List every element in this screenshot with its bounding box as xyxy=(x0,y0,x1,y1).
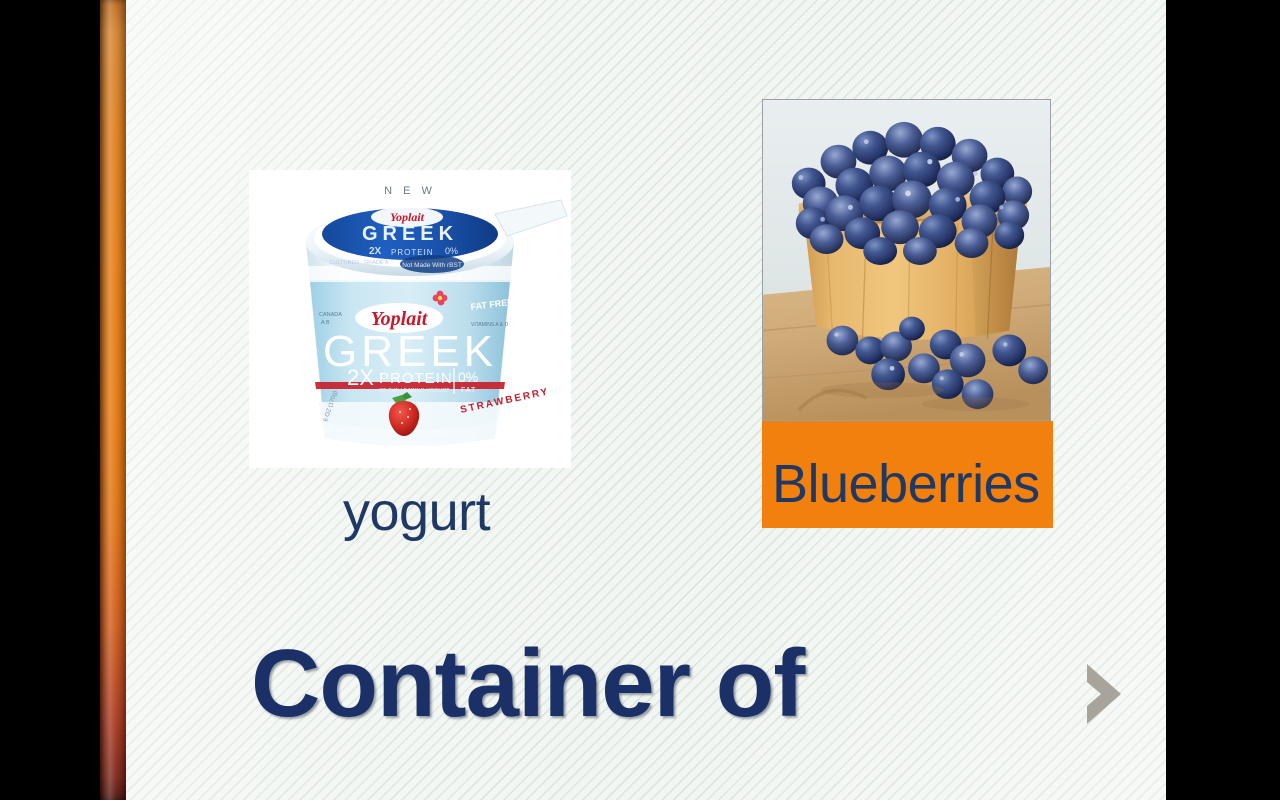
svg-text:PROTEIN: PROTEIN xyxy=(379,370,453,387)
blueberries-caption-label: Blueberries xyxy=(772,455,1166,513)
chevron-right-icon xyxy=(1087,664,1121,724)
svg-text:0%: 0% xyxy=(458,369,478,385)
letterbox-left xyxy=(0,0,100,800)
letterbox-right xyxy=(1166,0,1280,800)
presentation-viewer: N E W Yoplait GREEK 2X PROTEIN 0% Not Ma… xyxy=(0,0,1280,800)
svg-text:Yoplait: Yoplait xyxy=(390,210,425,224)
svg-text:0%: 0% xyxy=(445,246,458,256)
accent-bar-gloss xyxy=(100,0,126,800)
svg-text:CANADA: CANADA xyxy=(319,312,342,318)
svg-text:A B: A B xyxy=(321,320,330,326)
svg-text:FAT: FAT xyxy=(461,387,476,394)
yogurt-cup-photo[interactable]: N E W Yoplait GREEK 2X PROTEIN 0% Not Ma… xyxy=(249,170,571,468)
yogurt-caption-label: yogurt xyxy=(343,482,490,542)
svg-text:Not Made With rBST: Not Made With rBST xyxy=(402,262,462,269)
svg-text:CULTURED · GRADE A: CULTURED · GRADE A xyxy=(330,260,389,266)
slide-title: Container of xyxy=(251,634,804,734)
svg-text:GREEK: GREEK xyxy=(362,223,458,245)
svg-text:OF THE LEADING YOGURT: OF THE LEADING YOGURT xyxy=(379,388,450,394)
slide-accent-bar xyxy=(100,0,126,800)
svg-text:2X: 2X xyxy=(369,246,382,257)
svg-text:N E W: N E W xyxy=(384,185,436,197)
slide-canvas: N E W Yoplait GREEK 2X PROTEIN 0% Not Ma… xyxy=(100,0,1166,800)
next-slide-button[interactable] xyxy=(1075,658,1131,730)
svg-text:2X: 2X xyxy=(347,365,374,390)
blueberry-basket-photo[interactable] xyxy=(762,99,1051,421)
